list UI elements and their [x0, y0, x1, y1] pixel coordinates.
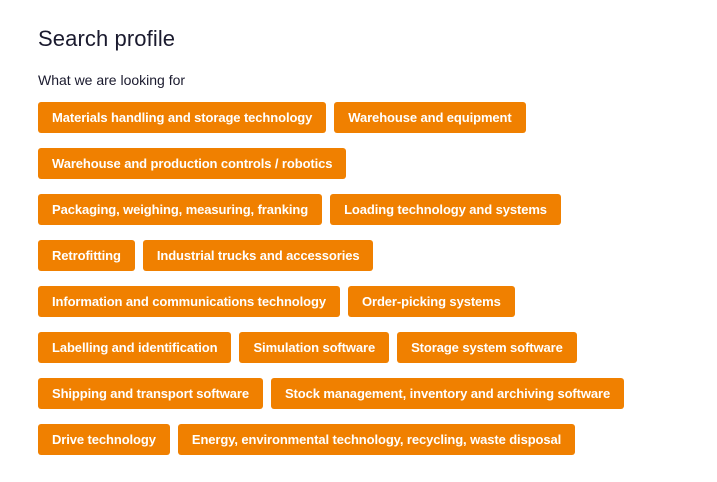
tag-row: Shipping and transport softwareStock man… — [38, 378, 717, 409]
search-profile-tag[interactable]: Labelling and identification — [38, 332, 231, 363]
search-profile-page: Search profile What we are looking for M… — [0, 0, 717, 482]
section-label-what-we-are-looking-for: What we are looking for — [38, 52, 717, 89]
search-profile-tag[interactable]: Warehouse and equipment — [334, 102, 525, 133]
search-profile-tag-list: Materials handling and storage technolog… — [38, 89, 717, 455]
search-profile-tag[interactable]: Materials handling and storage technolog… — [38, 102, 326, 133]
search-profile-tag[interactable]: Simulation software — [239, 332, 389, 363]
search-profile-tag[interactable]: Energy, environmental technology, recycl… — [178, 424, 575, 455]
search-profile-tag[interactable]: Warehouse and production controls / robo… — [38, 148, 346, 179]
search-profile-tag[interactable]: Order-picking systems — [348, 286, 515, 317]
page-title: Search profile — [38, 0, 717, 52]
search-profile-tag[interactable]: Industrial trucks and accessories — [143, 240, 374, 271]
tag-row: Packaging, weighing, measuring, franking… — [38, 194, 717, 225]
search-profile-tag[interactable]: Storage system software — [397, 332, 577, 363]
tag-row: Warehouse and production controls / robo… — [38, 148, 717, 179]
search-profile-tag[interactable]: Stock management, inventory and archivin… — [271, 378, 624, 409]
search-profile-tag[interactable]: Retrofitting — [38, 240, 135, 271]
tag-row: Labelling and identificationSimulation s… — [38, 332, 717, 363]
search-profile-tag[interactable]: Loading technology and systems — [330, 194, 561, 225]
search-profile-tag[interactable]: Shipping and transport software — [38, 378, 263, 409]
tag-row: RetrofittingIndustrial trucks and access… — [38, 240, 717, 271]
search-profile-tag[interactable]: Information and communications technolog… — [38, 286, 340, 317]
search-profile-tag[interactable]: Drive technology — [38, 424, 170, 455]
tag-row: Materials handling and storage technolog… — [38, 102, 717, 133]
search-profile-tag[interactable]: Packaging, weighing, measuring, franking — [38, 194, 322, 225]
tag-row: Information and communications technolog… — [38, 286, 717, 317]
tag-row: Drive technologyEnergy, environmental te… — [38, 424, 717, 455]
